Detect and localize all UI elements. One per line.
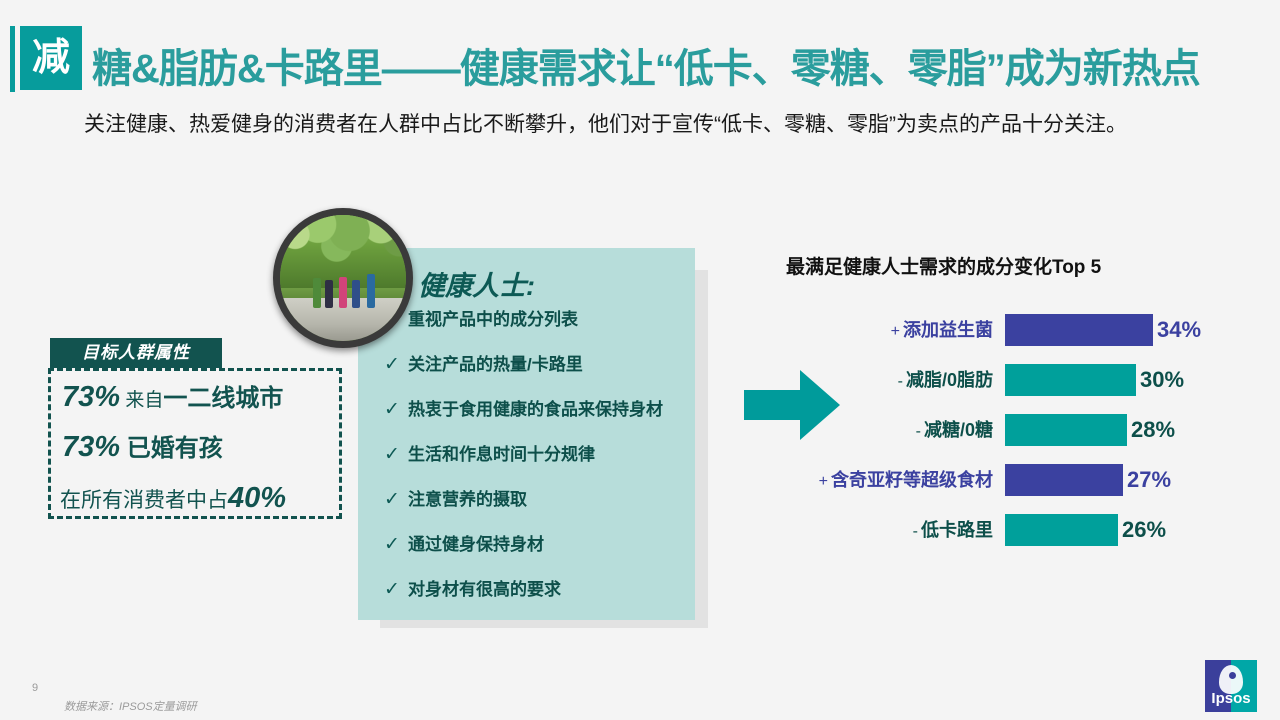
page-title: 糖&脂肪&卡路里——健康需求让“低卡、零糖、零脂”成为新热点 (92, 36, 1200, 94)
slide-canvas: 减 糖&脂肪&卡路里——健康需求让“低卡、零糖、零脂”成为新热点 关注健康、热爱… (0, 0, 1280, 720)
bar-value-label: 26% (1122, 510, 1166, 550)
source-note: 数据来源：IPSOS定量调研 (64, 698, 197, 714)
bar-value-label: 27% (1127, 460, 1171, 500)
bar (1005, 464, 1123, 496)
bar-sign-icon: + (891, 323, 903, 340)
list-item-label: 生活和作息时间十分规律 (408, 445, 595, 465)
bar-row: -低卡路里26% (770, 510, 1240, 550)
checklist-heading: 健康人士: (418, 264, 535, 303)
list-item: ✓ 重视产品中的成分列表 (376, 310, 696, 355)
bar (1005, 364, 1136, 396)
list-item-label: 热衷于食用健康的食品来保持身材 (408, 400, 663, 420)
bar-row: +添加益生菌34% (770, 310, 1240, 350)
check-icon: ✓ (376, 535, 408, 555)
bar-category-name: 含奇亚籽等超级食材 (831, 470, 993, 490)
bar-row: -减糖/0糖28% (770, 410, 1240, 450)
photo-runner (352, 280, 360, 308)
jogging-photo (273, 208, 413, 348)
list-item: ✓ 热衷于食用健康的食品来保持身材 (376, 400, 696, 445)
bar-sign-icon: - (916, 423, 924, 440)
bar-value-label: 34% (1157, 310, 1201, 350)
page-number: 9 (32, 682, 38, 694)
ipsos-logo: Ipsos (1205, 660, 1257, 712)
check-icon: ✓ (376, 355, 408, 375)
list-item: ✓ 注意营养的摄取 (376, 490, 696, 535)
bar (1005, 514, 1118, 546)
checklist: ✓ 重视产品中的成分列表 ✓ 关注产品的热量/卡路里 ✓ 热衷于食用健康的食品来… (376, 310, 696, 625)
bar-row: +含奇亚籽等超级食材27% (770, 460, 1240, 500)
bar-value-label: 30% (1140, 360, 1184, 400)
list-item: ✓ 关注产品的热量/卡路里 (376, 355, 696, 400)
check-icon: ✓ (376, 490, 408, 510)
bar-category-label: +含奇亚籽等超级食材 (819, 460, 993, 500)
header-badge: 减 (20, 26, 82, 90)
list-item-label: 关注产品的热量/卡路里 (408, 355, 583, 375)
list-item: ✓ 生活和作息时间十分规律 (376, 445, 696, 490)
bar-category-name: 添加益生菌 (903, 320, 993, 340)
subtitle-paragraph: 关注健康、热爱健身的消费者在人群中占比不断攀升，他们对于宣传“低卡、零糖、零脂”… (84, 110, 1234, 140)
list-item: ✓ 通过健身保持身材 (376, 535, 696, 580)
bar-sign-icon: - (913, 523, 921, 540)
chart-title: 最满足健康人士需求的成分变化Top 5 (786, 252, 1101, 279)
photo-runner (339, 277, 347, 308)
list-item-label: 重视产品中的成分列表 (408, 310, 578, 330)
header-accent-rule (10, 26, 15, 92)
bar-value-label: 28% (1131, 410, 1175, 450)
list-item: ✓ 对身材有很高的要求 (376, 580, 696, 625)
photo-runner (325, 280, 333, 308)
bar-row: -减脂/0脂肪30% (770, 360, 1240, 400)
check-icon: ✓ (376, 580, 408, 600)
bar-category-label: +添加益生菌 (891, 310, 993, 350)
target-group-tab: 目标人群属性 (50, 338, 222, 368)
bar-category-label: -低卡路里 (913, 510, 993, 550)
photo-runner (313, 278, 321, 308)
bar-category-label: -减糖/0糖 (916, 410, 993, 450)
bar-category-name: 减脂/0脂肪 (906, 370, 993, 390)
bar-category-label: -减脂/0脂肪 (898, 360, 993, 400)
check-icon: ✓ (376, 400, 408, 420)
target-group-box (48, 368, 342, 519)
list-item-label: 对身材有很高的要求 (408, 580, 561, 600)
ingredient-bar-chart: +添加益生菌34%-减脂/0脂肪30%-减糖/0糖28%+含奇亚籽等超级食材27… (770, 310, 1240, 580)
check-icon: ✓ (376, 445, 408, 465)
list-item-label: 注意营养的摄取 (408, 490, 527, 510)
bar-category-name: 低卡路里 (921, 520, 993, 540)
bar (1005, 414, 1127, 446)
bar (1005, 314, 1153, 346)
logo-text: Ipsos (1205, 690, 1257, 707)
bar-sign-icon: + (819, 473, 831, 490)
list-item-label: 通过健身保持身材 (408, 535, 544, 555)
bar-sign-icon: - (898, 373, 906, 390)
photo-runner (367, 274, 375, 308)
bar-category-name: 减糖/0糖 (924, 420, 993, 440)
